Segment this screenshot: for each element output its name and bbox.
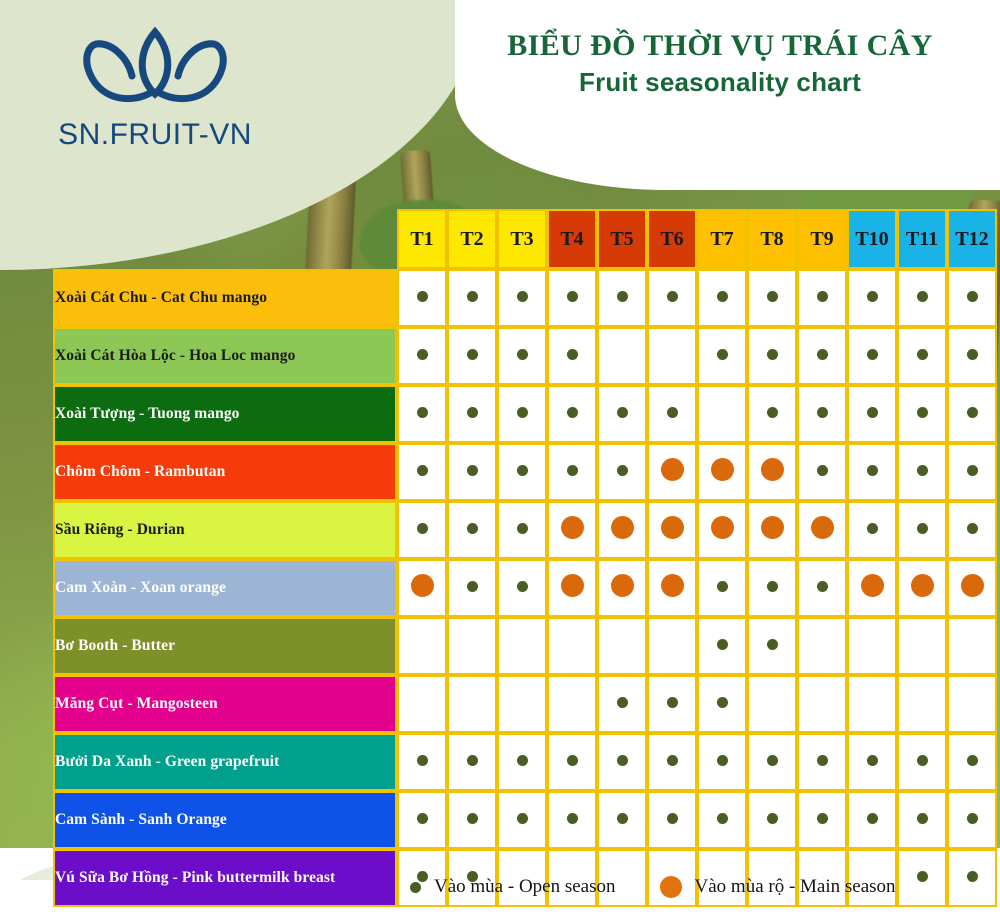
open-season-dot-icon — [817, 581, 828, 592]
main-season-dot-icon — [861, 574, 884, 597]
open-season-dot-icon — [717, 291, 728, 302]
main-season-dot-icon — [611, 516, 634, 539]
open-season-dot-icon — [417, 407, 428, 418]
open-season-dot-icon — [467, 465, 478, 476]
season-cell-t4-r1[interactable] — [547, 269, 597, 327]
open-season-dot-icon — [667, 407, 678, 418]
month-header-t9[interactable]: T9 — [797, 209, 847, 269]
season-cell-t3-r2[interactable] — [497, 327, 547, 385]
main-season-dot-icon — [761, 516, 784, 539]
open-season-dot-icon — [917, 291, 928, 302]
season-cell-t8-r2[interactable] — [747, 327, 797, 385]
season-cell-t2-r3[interactable] — [447, 385, 497, 443]
season-cell-t7-r8[interactable] — [697, 675, 747, 733]
season-cell-t11-r7[interactable] — [897, 617, 947, 675]
season-cell-t6-r9[interactable] — [647, 733, 697, 791]
table-row: Xoài Cát Chu - Cat Chu mango — [53, 269, 997, 327]
season-cell-t2-r6[interactable] — [447, 559, 497, 617]
season-cell-t5-r4[interactable] — [597, 443, 647, 501]
open-season-dot-icon — [917, 813, 928, 824]
season-cell-t1-r2[interactable] — [397, 327, 447, 385]
season-cell-t10-r2[interactable] — [847, 327, 897, 385]
open-season-dot-icon — [767, 813, 778, 824]
season-cell-t6-r5[interactable] — [647, 501, 697, 559]
season-cell-t4-r10[interactable] — [547, 791, 597, 849]
table-row: Cam Xoàn - Xoan orange — [53, 559, 997, 617]
main-season-dot-icon — [661, 574, 684, 597]
brand-logo: SN.FRUIT-VN — [40, 20, 270, 150]
fruit-row-label[interactable]: Bơ Booth - Butter — [53, 617, 397, 675]
open-season-dot-icon — [767, 639, 778, 650]
open-season-dot-icon — [817, 407, 828, 418]
fruit-row-label[interactable]: Xoài Tượng - Tuong mango — [53, 385, 397, 443]
open-season-dot-icon — [967, 813, 978, 824]
season-cell-t2-r10[interactable] — [447, 791, 497, 849]
open-season-dot-icon — [767, 291, 778, 302]
season-cell-t9-r6[interactable] — [797, 559, 847, 617]
season-cell-t6-r8[interactable] — [647, 675, 697, 733]
season-cell-t7-r5[interactable] — [697, 501, 747, 559]
season-cell-t7-r4[interactable] — [697, 443, 747, 501]
open-season-dot-icon — [417, 813, 428, 824]
season-cell-t3-r4[interactable] — [497, 443, 547, 501]
month-header-t10[interactable]: T10 — [847, 209, 897, 269]
table-row: Sầu Riêng - Durian — [53, 501, 997, 559]
open-season-dot-icon — [817, 349, 828, 360]
brand-logo-text: SN.FRUIT-VN — [40, 118, 270, 152]
season-cell-t10-r8[interactable] — [847, 675, 897, 733]
month-header-t4[interactable]: T4 — [547, 209, 597, 269]
season-cell-t1-r3[interactable] — [397, 385, 447, 443]
open-season-dot-icon — [567, 349, 578, 360]
season-cell-t3-r9[interactable] — [497, 733, 547, 791]
open-season-dot-icon — [517, 755, 528, 766]
open-season-dot-icon — [667, 813, 678, 824]
season-cell-t8-r5[interactable] — [747, 501, 797, 559]
season-cell-t2-r9[interactable] — [447, 733, 497, 791]
open-season-dot-icon — [917, 523, 928, 534]
season-cell-t12-r4[interactable] — [947, 443, 997, 501]
season-cell-t8-r3[interactable] — [747, 385, 797, 443]
open-season-dot-icon — [617, 755, 628, 766]
season-cell-t11-r6[interactable] — [897, 559, 947, 617]
open-season-dot-icon — [617, 407, 628, 418]
season-cell-t12-r7[interactable] — [947, 617, 997, 675]
open-season-dot-icon — [967, 291, 978, 302]
open-season-dot-icon — [467, 407, 478, 418]
season-cell-t10-r9[interactable] — [847, 733, 897, 791]
open-season-dot-icon — [817, 813, 828, 824]
season-cell-t2-r7[interactable] — [447, 617, 497, 675]
open-season-dot-icon — [867, 407, 878, 418]
season-cell-t6-r4[interactable] — [647, 443, 697, 501]
open-season-dot-icon — [767, 407, 778, 418]
season-cell-t5-r1[interactable] — [597, 269, 647, 327]
season-cell-t12-r9[interactable] — [947, 733, 997, 791]
season-cell-t11-r2[interactable] — [897, 327, 947, 385]
fruit-row-label[interactable]: Sầu Riêng - Durian — [53, 501, 397, 559]
season-cell-t6-r10[interactable] — [647, 791, 697, 849]
open-season-dot-icon — [717, 639, 728, 650]
main-season-dot-icon — [711, 516, 734, 539]
title-vietnamese: BIỂU ĐỒ THỜI VỤ TRÁI CÂY — [455, 28, 985, 63]
open-season-dot-icon — [817, 755, 828, 766]
table-row: Xoài Tượng - Tuong mango — [53, 385, 997, 443]
open-season-dot-icon — [817, 465, 828, 476]
season-cell-t3-r8[interactable] — [497, 675, 547, 733]
open-season-dot-icon — [517, 349, 528, 360]
season-cell-t8-r8[interactable] — [747, 675, 797, 733]
open-season-dot-icon — [717, 813, 728, 824]
main-season-dot-icon — [911, 574, 934, 597]
open-season-dot-icon — [417, 291, 428, 302]
open-season-dot-icon — [567, 291, 578, 302]
season-cell-t4-r6[interactable] — [547, 559, 597, 617]
season-cell-t10-r10[interactable] — [847, 791, 897, 849]
open-season-dot-icon — [967, 755, 978, 766]
season-cell-t9-r2[interactable] — [797, 327, 847, 385]
season-cell-t12-r8[interactable] — [947, 675, 997, 733]
month-header-t1[interactable]: T1 — [397, 209, 447, 269]
legend-main-season-label: Vào mùa rộ - Main season — [695, 876, 896, 898]
season-cell-t12-r10[interactable] — [947, 791, 997, 849]
season-cell-t5-r7[interactable] — [597, 617, 647, 675]
open-season-dot-icon — [917, 755, 928, 766]
season-cell-t11-r4[interactable] — [897, 443, 947, 501]
season-cell-t6-r7[interactable] — [647, 617, 697, 675]
legend-open-season-dot-icon — [410, 882, 421, 893]
season-cell-t3-r7[interactable] — [497, 617, 547, 675]
season-cell-t4-r4[interactable] — [547, 443, 597, 501]
season-cell-t4-r2[interactable] — [547, 327, 597, 385]
season-cell-t9-r7[interactable] — [797, 617, 847, 675]
open-season-dot-icon — [417, 465, 428, 476]
legend-item-open-season: Vào mùa - Open season — [400, 876, 616, 898]
open-season-dot-icon — [617, 697, 628, 708]
open-season-dot-icon — [967, 523, 978, 534]
season-cell-t5-r3[interactable] — [597, 385, 647, 443]
season-cell-t5-r5[interactable] — [597, 501, 647, 559]
main-season-dot-icon — [661, 458, 684, 481]
open-season-dot-icon — [917, 465, 928, 476]
season-cell-t1-r8[interactable] — [397, 675, 447, 733]
open-season-dot-icon — [867, 465, 878, 476]
season-cell-t8-r1[interactable] — [747, 269, 797, 327]
month-header-t8[interactable]: T8 — [747, 209, 797, 269]
month-header-t5[interactable]: T5 — [597, 209, 647, 269]
season-cell-t8-r7[interactable] — [747, 617, 797, 675]
open-season-dot-icon — [567, 755, 578, 766]
season-cell-t5-r9[interactable] — [597, 733, 647, 791]
main-season-dot-icon — [711, 458, 734, 481]
season-cell-t9-r10[interactable] — [797, 791, 847, 849]
season-cell-t1-r6[interactable] — [397, 559, 447, 617]
season-cell-t8-r10[interactable] — [747, 791, 797, 849]
open-season-dot-icon — [567, 813, 578, 824]
season-cell-t7-r3[interactable] — [697, 385, 747, 443]
month-header-t7[interactable]: T7 — [697, 209, 747, 269]
fruit-row-label[interactable]: Xoài Cát Chu - Cat Chu mango — [53, 269, 397, 327]
open-season-dot-icon — [867, 813, 878, 824]
season-cell-t3-r10[interactable] — [497, 791, 547, 849]
season-cell-t7-r1[interactable] — [697, 269, 747, 327]
open-season-dot-icon — [717, 697, 728, 708]
main-season-dot-icon — [961, 574, 984, 597]
season-cell-t9-r5[interactable] — [797, 501, 847, 559]
season-cell-t1-r7[interactable] — [397, 617, 447, 675]
season-cell-t2-r1[interactable] — [447, 269, 497, 327]
season-cell-t11-r5[interactable] — [897, 501, 947, 559]
fruit-row-label[interactable]: Bưởi Da Xanh - Green grapefruit — [53, 733, 397, 791]
season-cell-t10-r6[interactable] — [847, 559, 897, 617]
table-row: Măng Cụt - Mangosteen — [53, 675, 997, 733]
open-season-dot-icon — [517, 407, 528, 418]
open-season-dot-icon — [517, 291, 528, 302]
main-season-dot-icon — [811, 516, 834, 539]
open-season-dot-icon — [867, 523, 878, 534]
season-cell-t12-r3[interactable] — [947, 385, 997, 443]
month-header-t6[interactable]: T6 — [647, 209, 697, 269]
season-cell-t1-r9[interactable] — [397, 733, 447, 791]
season-cell-t12-r1[interactable] — [947, 269, 997, 327]
season-cell-t12-r6[interactable] — [947, 559, 997, 617]
open-season-dot-icon — [567, 465, 578, 476]
season-cell-t2-r2[interactable] — [447, 327, 497, 385]
month-header-t2[interactable]: T2 — [447, 209, 497, 269]
chart-title-block: BIỂU ĐỒ THỜI VỤ TRÁI CÂY Fruit seasonali… — [455, 28, 985, 98]
open-season-dot-icon — [467, 523, 478, 534]
open-season-dot-icon — [767, 349, 778, 360]
season-cell-t7-r6[interactable] — [697, 559, 747, 617]
table-row: Chôm Chôm - Rambutan — [53, 443, 997, 501]
season-cell-t10-r3[interactable] — [847, 385, 897, 443]
open-season-dot-icon — [717, 755, 728, 766]
table-body: Xoài Cát Chu - Cat Chu mangoXoài Cát Hòa… — [53, 269, 997, 907]
season-cell-t11-r10[interactable] — [897, 791, 947, 849]
fruit-row-label[interactable]: Xoài Cát Hòa Lộc - Hoa Loc mango — [53, 327, 397, 385]
open-season-dot-icon — [867, 291, 878, 302]
open-season-dot-icon — [967, 349, 978, 360]
season-cell-t9-r3[interactable] — [797, 385, 847, 443]
main-season-dot-icon — [611, 574, 634, 597]
open-season-dot-icon — [717, 581, 728, 592]
season-cell-t7-r2[interactable] — [697, 327, 747, 385]
open-season-dot-icon — [667, 291, 678, 302]
season-cell-t10-r1[interactable] — [847, 269, 897, 327]
month-header-t11[interactable]: T11 — [897, 209, 947, 269]
open-season-dot-icon — [517, 523, 528, 534]
season-cell-t4-r7[interactable] — [547, 617, 597, 675]
seasonality-table-wrap: T1T2T3T4T5T6T7T8T9T10T11T12 Xoài Cát Chu… — [53, 209, 997, 907]
open-season-dot-icon — [767, 755, 778, 766]
open-season-dot-icon — [467, 581, 478, 592]
open-season-dot-icon — [617, 465, 628, 476]
season-cell-t2-r5[interactable] — [447, 501, 497, 559]
season-cell-t10-r7[interactable] — [847, 617, 897, 675]
season-cell-t2-r4[interactable] — [447, 443, 497, 501]
season-cell-t10-r4[interactable] — [847, 443, 897, 501]
fruit-row-label[interactable]: Cam Sành - Sanh Orange — [53, 791, 397, 849]
fruit-row-label[interactable]: Cam Xoàn - Xoan orange — [53, 559, 397, 617]
season-cell-t9-r8[interactable] — [797, 675, 847, 733]
season-cell-t8-r9[interactable] — [747, 733, 797, 791]
season-cell-t4-r9[interactable] — [547, 733, 597, 791]
open-season-dot-icon — [867, 349, 878, 360]
open-season-dot-icon — [917, 349, 928, 360]
legend-open-season-label: Vào mùa - Open season — [434, 876, 616, 898]
fruit-row-label[interactable]: Măng Cụt - Mangosteen — [53, 675, 397, 733]
season-cell-t11-r9[interactable] — [897, 733, 947, 791]
season-cell-t11-r1[interactable] — [897, 269, 947, 327]
open-season-dot-icon — [417, 349, 428, 360]
main-season-dot-icon — [561, 574, 584, 597]
open-season-dot-icon — [917, 407, 928, 418]
table-row: Xoài Cát Hòa Lộc - Hoa Loc mango — [53, 327, 997, 385]
open-season-dot-icon — [717, 349, 728, 360]
title-english: Fruit seasonality chart — [455, 67, 985, 98]
table-row: Cam Sành - Sanh Orange — [53, 791, 997, 849]
open-season-dot-icon — [417, 523, 428, 534]
main-season-dot-icon — [661, 516, 684, 539]
open-season-dot-icon — [517, 813, 528, 824]
open-season-dot-icon — [467, 813, 478, 824]
open-season-dot-icon — [617, 813, 628, 824]
season-cell-t9-r4[interactable] — [797, 443, 847, 501]
season-cell-t5-r6[interactable] — [597, 559, 647, 617]
main-season-dot-icon — [761, 458, 784, 481]
season-cell-t6-r2[interactable] — [647, 327, 697, 385]
season-cell-t1-r1[interactable] — [397, 269, 447, 327]
main-season-dot-icon — [561, 516, 584, 539]
season-cell-t7-r7[interactable] — [697, 617, 747, 675]
fruit-row-label[interactable]: Vú Sữa Bơ Hồng - Pink buttermilk breast — [53, 849, 397, 907]
open-season-dot-icon — [667, 755, 678, 766]
open-season-dot-icon — [967, 465, 978, 476]
legend-main-season-dot-icon — [660, 876, 682, 898]
season-cell-t4-r3[interactable] — [547, 385, 597, 443]
season-cell-t8-r6[interactable] — [747, 559, 797, 617]
header-corner-spacer — [53, 209, 397, 269]
legend-item-main-season: Vào mùa rộ - Main season — [660, 876, 896, 898]
season-cell-t1-r5[interactable] — [397, 501, 447, 559]
season-cell-t1-r4[interactable] — [397, 443, 447, 501]
open-season-dot-icon — [817, 291, 828, 302]
month-header-t12[interactable]: T12 — [947, 209, 997, 269]
season-cell-t3-r3[interactable] — [497, 385, 547, 443]
month-header-t3[interactable]: T3 — [497, 209, 547, 269]
open-season-dot-icon — [617, 291, 628, 302]
open-season-dot-icon — [467, 291, 478, 302]
season-cell-t11-r3[interactable] — [897, 385, 947, 443]
season-cell-t6-r1[interactable] — [647, 269, 697, 327]
season-cell-t9-r1[interactable] — [797, 269, 847, 327]
season-cell-t12-r2[interactable] — [947, 327, 997, 385]
season-cell-t7-r10[interactable] — [697, 791, 747, 849]
season-cell-t12-r5[interactable] — [947, 501, 997, 559]
open-season-dot-icon — [417, 755, 428, 766]
table-header-row: T1T2T3T4T5T6T7T8T9T10T11T12 — [53, 209, 997, 269]
season-cell-t4-r8[interactable] — [547, 675, 597, 733]
main-season-dot-icon — [411, 574, 434, 597]
season-cell-t9-r9[interactable] — [797, 733, 847, 791]
chart-legend: Vào mùa - Open season Vào mùa rộ - Main … — [400, 876, 980, 898]
season-cell-t7-r9[interactable] — [697, 733, 747, 791]
season-cell-t1-r10[interactable] — [397, 791, 447, 849]
season-cell-t3-r5[interactable] — [497, 501, 547, 559]
season-cell-t8-r4[interactable] — [747, 443, 797, 501]
open-season-dot-icon — [567, 407, 578, 418]
season-cell-t5-r2[interactable] — [597, 327, 647, 385]
season-cell-t4-r5[interactable] — [547, 501, 597, 559]
open-season-dot-icon — [667, 697, 678, 708]
open-season-dot-icon — [517, 465, 528, 476]
table-row: Bơ Booth - Butter — [53, 617, 997, 675]
fruit-row-label[interactable]: Chôm Chôm - Rambutan — [53, 443, 397, 501]
open-season-dot-icon — [867, 755, 878, 766]
season-cell-t3-r6[interactable] — [497, 559, 547, 617]
season-cell-t11-r8[interactable] — [897, 675, 947, 733]
poster-root: SN.FRUIT-VN BIỂU ĐỒ THỜI VỤ TRÁI CÂY Fru… — [0, 0, 1000, 919]
season-cell-t2-r8[interactable] — [447, 675, 497, 733]
season-cell-t3-r1[interactable] — [497, 269, 547, 327]
open-season-dot-icon — [467, 755, 478, 766]
season-cell-t10-r5[interactable] — [847, 501, 897, 559]
open-season-dot-icon — [967, 407, 978, 418]
open-season-dot-icon — [767, 581, 778, 592]
season-cell-t6-r6[interactable] — [647, 559, 697, 617]
table-row: Bưởi Da Xanh - Green grapefruit — [53, 733, 997, 791]
season-cell-t5-r8[interactable] — [597, 675, 647, 733]
lotus-logo-icon — [40, 20, 270, 120]
open-season-dot-icon — [467, 349, 478, 360]
season-cell-t6-r3[interactable] — [647, 385, 697, 443]
season-cell-t5-r10[interactable] — [597, 791, 647, 849]
seasonality-table: T1T2T3T4T5T6T7T8T9T10T11T12 Xoài Cát Chu… — [53, 209, 997, 907]
open-season-dot-icon — [517, 581, 528, 592]
